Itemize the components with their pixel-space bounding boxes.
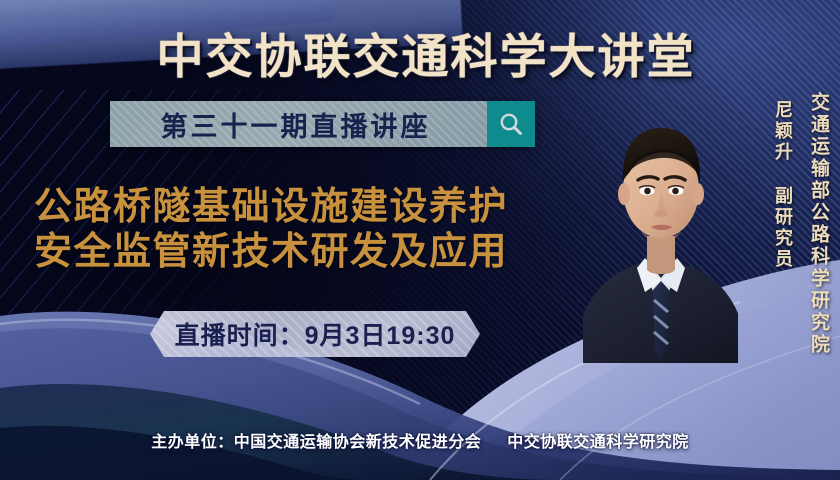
headline-line-2: 安全监管新技术研发及应用 (34, 229, 508, 274)
lecture-headline: 公路桥隧基础设施建设养护 安全监管新技术研发及应用 (34, 184, 508, 274)
speaker-name-title: 尼颖升 副研究员 (770, 100, 796, 270)
live-stream-poster: 中交协联交通科学大讲堂 第三十一期直播讲座 公路桥隧基础设施建设养护 安全监管新… (0, 0, 840, 480)
broadcast-time-label: 直播时间：9月3日19:30 (175, 316, 456, 352)
search-button[interactable] (487, 101, 535, 147)
episode-subtitle-bar: 第三十一期直播讲座 (110, 101, 535, 147)
broadcast-time-badge: 直播时间：9月3日19:30 (150, 311, 480, 357)
page-title: 中交协联交通科学大讲堂 (0, 18, 840, 87)
speaker-organization: 交通运输部公路科学研究院 (805, 92, 832, 356)
organizer-primary: 主办单位：中国交通运输协会新技术促进分会 (151, 434, 481, 451)
footer-organizers: 主办单位：中国交通运输协会新技术促进分会中交协联交通科学研究院 (0, 428, 840, 452)
headline-line-1: 公路桥隧基础设施建设养护 (34, 184, 508, 229)
episode-label: 第三十一期直播讲座 (161, 105, 431, 144)
episode-label-box: 第三十一期直播讲座 (110, 101, 487, 147)
search-icon (498, 111, 524, 137)
speaker-portrait (583, 78, 738, 363)
organizer-secondary: 中交协联交通科学研究院 (507, 434, 689, 451)
